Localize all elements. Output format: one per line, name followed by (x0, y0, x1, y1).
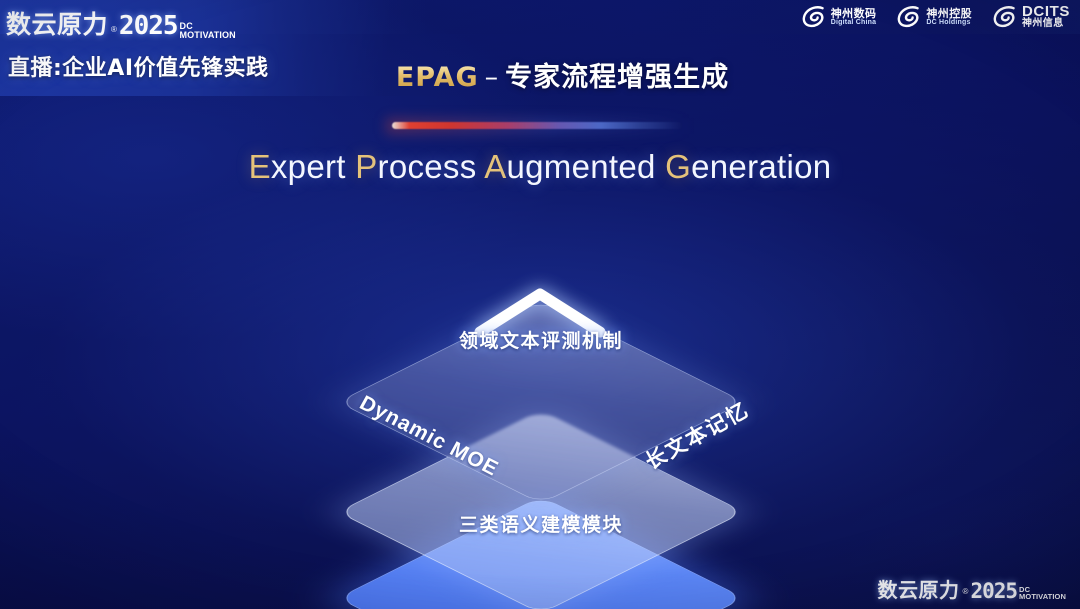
partner-logo-group: 神州数码 Digital China 神州控股 DC Holdings (801, 4, 1070, 29)
subtitle-part: rocess (378, 148, 485, 185)
page-title: EPAG–专家流程增强生成 (0, 55, 1080, 94)
partner-logo-text: 神州控股 DC Holdings (926, 8, 972, 26)
brand-watermark-motivation: MOTIVATION (1019, 594, 1066, 601)
spiral-logo-icon (896, 5, 922, 29)
brand-watermark: 数云原力 ® 2025 DC MOTIVATION (878, 574, 1066, 603)
divider-line (392, 122, 682, 129)
slide-canvas: 数云原力 ® 2025 DC MOTIVATION 直播:企业AI价值先锋实践 … (0, 0, 1080, 609)
brand-watermark-year: 2025 (970, 579, 1017, 603)
partner-logo-text: DCITS 神州信息 (1022, 4, 1070, 29)
brand-watermark-registered: ® (963, 587, 969, 596)
subtitle: Expert Process Augmented Generation (0, 148, 1080, 186)
brand-logo-year: 2025 (119, 11, 178, 41)
partner-logo-text: 神州数码 Digital China (831, 8, 877, 26)
title-dash: – (479, 62, 506, 93)
partner-name-cn: 神州信息 (1022, 19, 1070, 29)
subtitle-part: ugmented (507, 148, 666, 185)
brand-logo-subtext: DC MOTIVATION (180, 22, 236, 41)
partner-logo-dc-holdings: 神州控股 DC Holdings (896, 5, 972, 29)
partner-name-cn: 神州数码 (831, 8, 877, 19)
brand-watermark-cn: 数云原力 (878, 574, 960, 603)
subtitle-part: xpert (271, 148, 355, 185)
subtitle-part: G (665, 148, 691, 185)
brand-logo: 数云原力 ® 2025 DC MOTIVATION (6, 5, 236, 41)
spiral-logo-icon (992, 5, 1018, 29)
partner-logo-dcits: DCITS 神州信息 (992, 4, 1070, 29)
subtitle-part: P (355, 148, 377, 185)
layer-stack-diagram: 三类语义建模模块 Dynamic MOE 长文本记忆 领域文本评测机制 (291, 222, 791, 582)
spiral-logo-icon (801, 5, 827, 29)
diagram-layer-top (291, 222, 791, 510)
partner-name-en: DCITS (1022, 4, 1070, 19)
partner-logo-digital-china: 神州数码 Digital China (801, 5, 877, 29)
partner-name-en: DC Holdings (926, 19, 972, 26)
brand-watermark-subtext: DC MOTIVATION (1019, 587, 1066, 603)
brand-logo-motivation: MOTIVATION (180, 31, 236, 39)
brand-logo-cn: 数云原力 (6, 5, 108, 41)
brand-logo-registered: ® (111, 25, 117, 34)
subtitle-part: A (484, 148, 506, 185)
layer-plate (337, 300, 744, 504)
title-acronym: EPAG (396, 62, 479, 93)
partner-name-cn: 神州控股 (926, 8, 972, 19)
title-chinese: 专家流程增强生成 (505, 62, 729, 93)
subtitle-part: eneration (691, 148, 831, 185)
partner-name-en: Digital China (831, 19, 877, 26)
subtitle-part: E (249, 148, 271, 185)
